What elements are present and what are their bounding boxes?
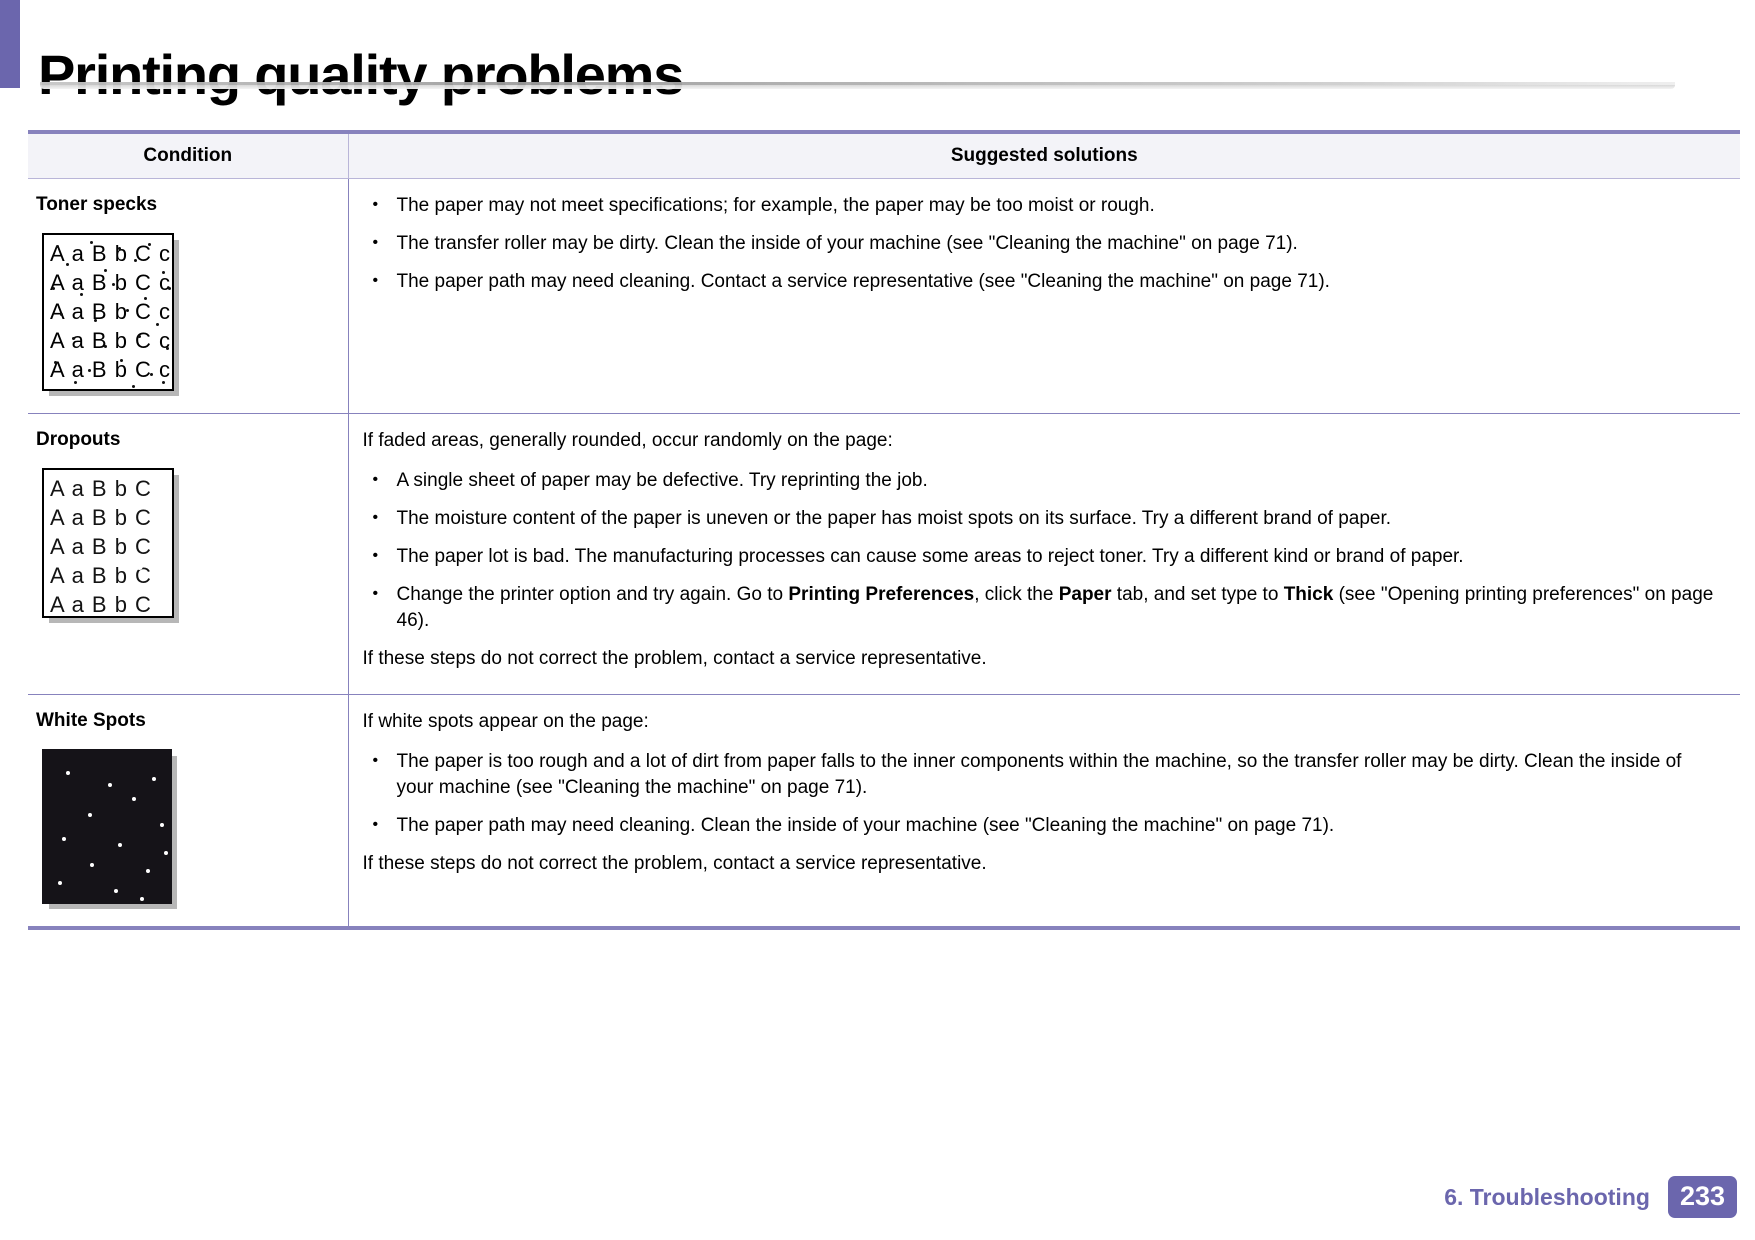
solution-bullet-list: The paper is too rough and a lot of dirt…: [363, 749, 1719, 839]
table-row: Dropouts A a B b C A a B b C A a B b C A…: [28, 413, 1740, 694]
printing-quality-table: Condition Suggested solutions Toner spec…: [28, 130, 1740, 930]
solution-bullet: The paper path may need cleaning. Contac…: [363, 269, 1719, 295]
title-divider: [40, 82, 1675, 89]
solution-bullet: A single sheet of paper may be defective…: [363, 468, 1719, 494]
bullet-bold-thick: Thick: [1284, 584, 1334, 605]
bullet-bold-paper: Paper: [1059, 584, 1112, 605]
column-header-suggested-solutions: Suggested solutions: [348, 132, 1740, 178]
footer-page-number: 233: [1668, 1176, 1737, 1218]
table-header-row: Condition Suggested solutions: [28, 132, 1740, 178]
sample-text-line: A a B b C: [44, 474, 172, 503]
condition-cell-white-spots: White Spots: [28, 694, 348, 928]
solution-bullet-list: The paper may not meet specifications; f…: [363, 193, 1719, 295]
sample-text-line: A a B b C c: [44, 297, 172, 326]
sample-text-line: A a B b C: [44, 561, 172, 590]
solution-bullet: The paper is too rough and a lot of dirt…: [363, 749, 1719, 801]
sample-text-line: A a B b C: [44, 590, 172, 618]
solution-bullet-rich: Change the printer option and try again.…: [363, 582, 1719, 634]
solution-bullet: The moisture content of the paper is une…: [363, 506, 1719, 532]
bullet-text-part: Change the printer option and try again.…: [397, 584, 789, 605]
table-header: Condition Suggested solutions: [28, 132, 1740, 178]
solution-bullet: The paper may not meet specifications; f…: [363, 193, 1719, 219]
page-footer: 6. Troubleshooting 233: [1444, 1176, 1737, 1218]
document-page: Printing quality problems Condition Sugg…: [0, 0, 1755, 1240]
solution-bullet-list: A single sheet of paper may be defective…: [363, 468, 1719, 634]
condition-cell-dropouts: Dropouts A a B b C A a B b C A a B b C A…: [28, 413, 348, 694]
toner-specks-sample: A a B b C c A a B b C c A a B b C c A a …: [42, 233, 174, 391]
white-spots-sample: [42, 749, 172, 904]
sample-text-line: A a B b C c: [44, 355, 172, 384]
solution-lead-text: If faded areas, generally rounded, occur…: [363, 428, 1719, 454]
solutions-cell-white-spots: If white spots appear on the page: The p…: [348, 694, 1740, 928]
dropouts-sample: A a B b C A a B b C A a B b C A a B b C …: [42, 468, 174, 618]
solution-tail-text: If these steps do not correct the proble…: [363, 851, 1719, 877]
header-accent-bar: [0, 0, 20, 88]
bullet-text-part: , click the: [974, 584, 1058, 605]
sample-text-line: A a B b C: [44, 532, 172, 561]
solution-bullet: The transfer roller may be dirty. Clean …: [363, 231, 1719, 257]
solution-bullet: The paper lot is bad. The manufacturing …: [363, 544, 1719, 570]
bullet-bold-printing-preferences: Printing Preferences: [788, 584, 974, 605]
solution-tail-text: If these steps do not correct the proble…: [363, 646, 1719, 672]
footer-chapter-label: 6. Troubleshooting: [1444, 1184, 1650, 1211]
bullet-text-part: tab, and set type to: [1112, 584, 1284, 605]
table-row: Toner specks A a B b C c A a B b C c A a…: [28, 178, 1740, 413]
column-header-condition: Condition: [28, 132, 348, 178]
solution-lead-text: If white spots appear on the page:: [363, 709, 1719, 735]
solutions-cell-toner-specks: The paper may not meet specifications; f…: [348, 178, 1740, 413]
sample-text-line: A a B b C c: [44, 268, 172, 297]
condition-label: Toner specks: [36, 193, 338, 217]
solutions-cell-dropouts: If faded areas, generally rounded, occur…: [348, 413, 1740, 694]
sample-text-line: A a B b C c: [44, 239, 172, 268]
sample-text-line: A a B b C c: [44, 326, 172, 355]
table-body: Toner specks A a B b C c A a B b C c A a…: [28, 178, 1740, 928]
sample-text-block: A a B b C A a B b C A a B b C A a B b C …: [44, 470, 172, 618]
solution-bullet: The paper path may need cleaning. Clean …: [363, 813, 1719, 839]
condition-label: White Spots: [36, 709, 338, 733]
page-title: Printing quality problems: [38, 40, 683, 110]
condition-label: Dropouts: [36, 428, 338, 452]
condition-cell-toner-specks: Toner specks A a B b C c A a B b C c A a…: [28, 178, 348, 413]
table-row: White Spots If white spots appear on the…: [28, 694, 1740, 928]
sample-text-block: A a B b C c A a B b C c A a B b C c A a …: [44, 235, 172, 384]
